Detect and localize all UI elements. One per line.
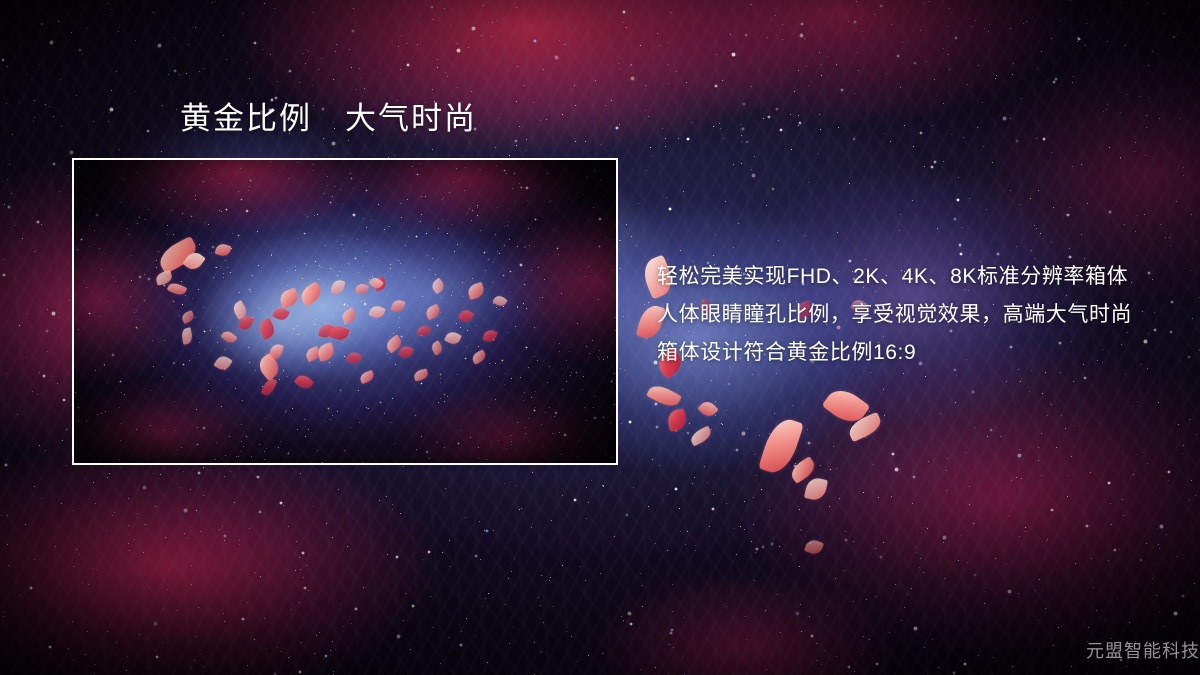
petal	[788, 456, 819, 484]
page-title: 黄金比例 大气时尚	[180, 102, 477, 136]
body-text-block: 轻松完美实现FHD、2K、4K、8K标准分辨率箱体 人体眼睛瞳孔比例，享受视觉效…	[657, 258, 1177, 372]
frame-vignette	[74, 160, 616, 463]
petal	[804, 476, 828, 502]
body-line-2: 人体眼睛瞳孔比例，享受视觉效果，高端大气时尚	[657, 296, 1177, 334]
body-line-3: 箱体设计符合黄金比例16:9	[657, 334, 1177, 372]
petal	[688, 426, 713, 447]
presentation-slide: 黄金比例 大气时尚 轻松完美实现FHD、2K、4K、8K标准分辨率箱体 人体眼睛…	[0, 0, 1200, 675]
petal	[846, 412, 884, 442]
petal	[646, 381, 682, 410]
image-frame-content	[74, 160, 616, 463]
petal	[822, 383, 871, 429]
petal	[666, 408, 688, 431]
image-frame	[72, 158, 618, 465]
watermark: 元盟智能科技	[1086, 637, 1200, 663]
petal	[697, 398, 718, 419]
body-line-1: 轻松完美实现FHD、2K、4K、8K标准分辨率箱体	[657, 258, 1177, 296]
petal	[758, 415, 804, 478]
petal	[804, 538, 824, 557]
